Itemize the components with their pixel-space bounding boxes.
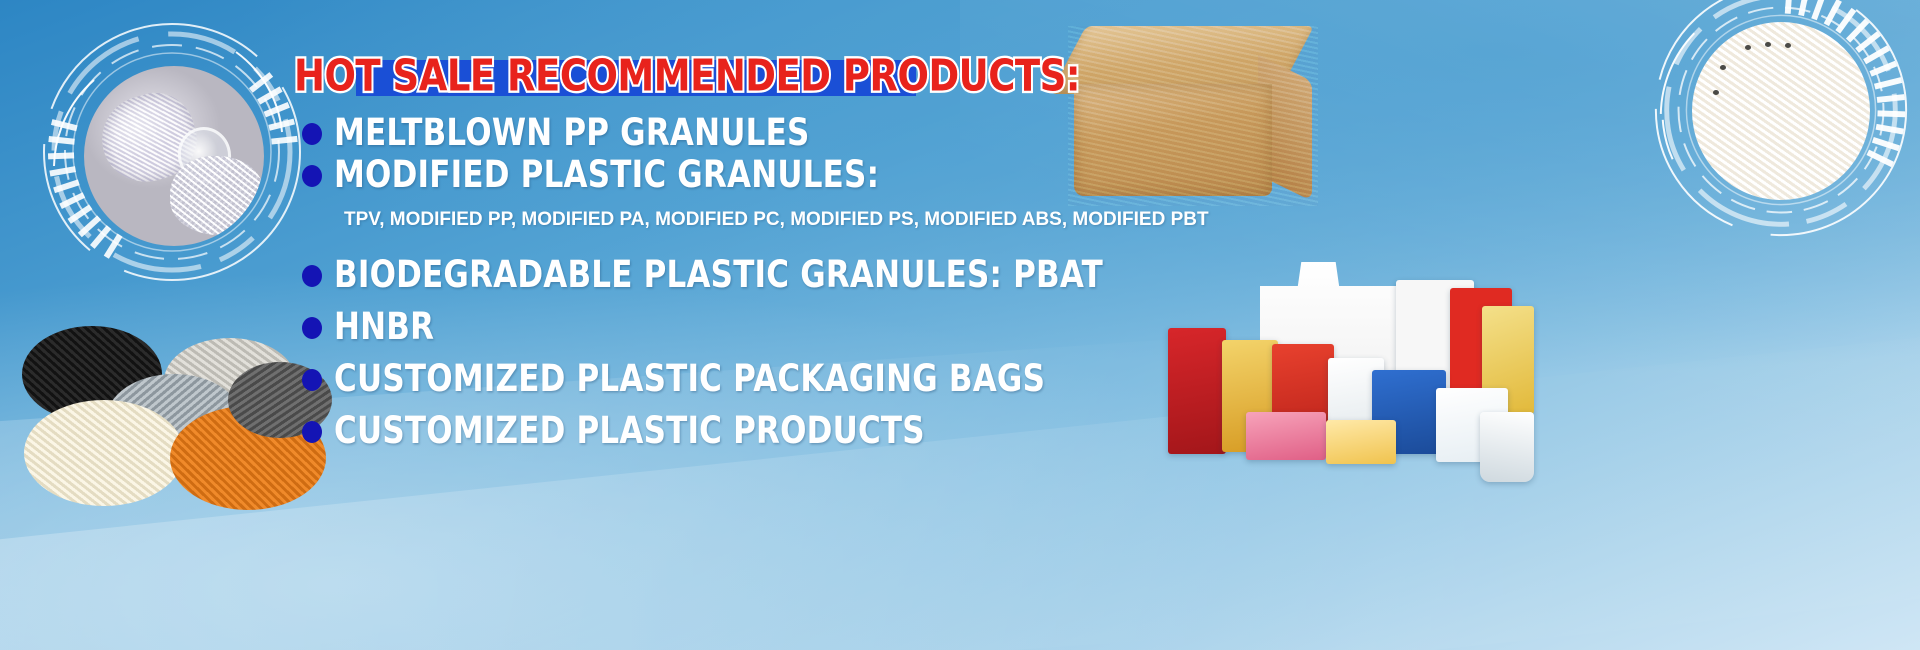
right-circle-photo-white-granules (1692, 22, 1870, 200)
bullet-icon (302, 369, 322, 391)
list-item[interactable]: CUSTOMIZED PLASTIC PRODUCTS (288, 411, 1298, 451)
list-item[interactable]: BIODEGRADABLE PLASTIC GRANULES: PBAT (288, 255, 1298, 295)
product-label: BIODEGRADABLE PLASTIC GRANULES: PBAT (334, 251, 1298, 300)
promo-banner: HOT SALE RECOMMENDED PRODUCTS: MELTBLOWN… (0, 0, 1920, 650)
bullet-icon (302, 165, 322, 187)
product-sublabel: TPV, MODIFIED PP, MODIFIED PA, MODIFIED … (344, 207, 1298, 233)
product-label: MODIFIED PLASTIC GRANULES: (334, 151, 1298, 200)
product-label: HNBR (334, 303, 1298, 352)
left-circle-photo-clear-granules (84, 66, 264, 246)
bullet-icon (302, 265, 322, 287)
list-item[interactable]: MELTBLOWN PP GRANULES (288, 113, 1298, 153)
bullet-icon (302, 421, 322, 443)
list-item[interactable]: HNBR (288, 307, 1298, 347)
list-item[interactable]: CUSTOMIZED PLASTIC PACKAGING BAGS (288, 359, 1298, 399)
product-label: CUSTOMIZED PLASTIC PRODUCTS (334, 407, 1298, 456)
bullet-icon (302, 123, 322, 145)
list-item[interactable]: MODIFIED PLASTIC GRANULES: TPV, MODIFIED… (288, 155, 1298, 233)
product-list: MELTBLOWN PP GRANULES MODIFIED PLASTIC G… (288, 113, 1298, 451)
banner-content: HOT SALE RECOMMENDED PRODUCTS: MELTBLOWN… (288, 48, 1298, 451)
bullet-icon (302, 317, 322, 339)
product-label: CUSTOMIZED PLASTIC PACKAGING BAGS (334, 355, 1298, 404)
banner-title-block: HOT SALE RECOMMENDED PRODUCTS: (288, 48, 1086, 97)
page-title: HOT SALE RECOMMENDED PRODUCTS: (288, 48, 1086, 106)
